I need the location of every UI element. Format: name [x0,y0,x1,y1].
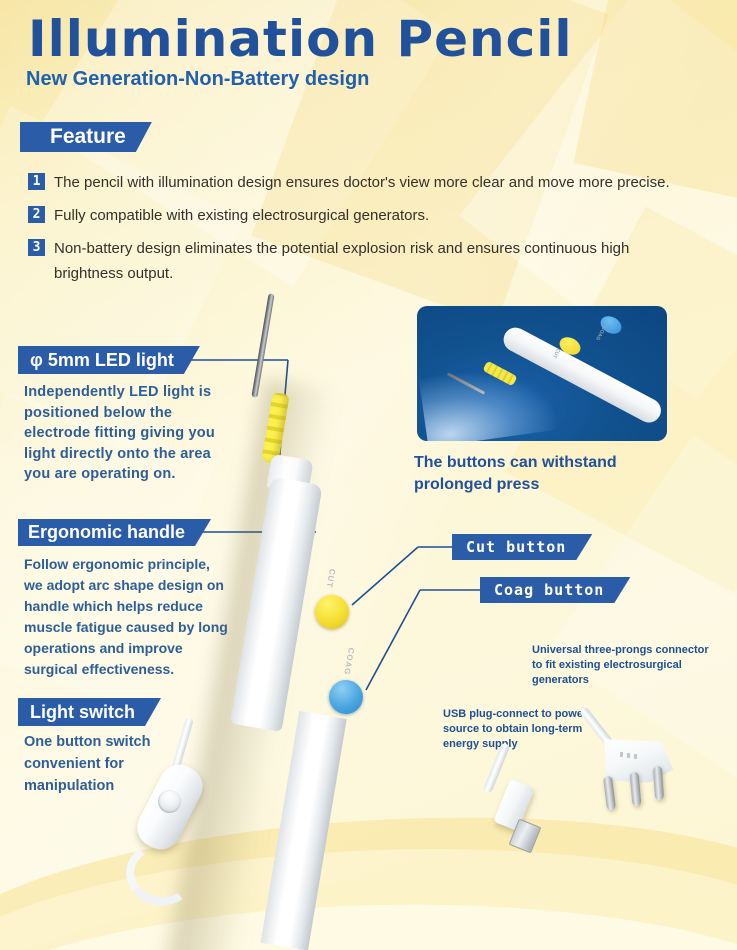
prong-vent-mark [634,754,637,759]
feature-number-badge: 2 [28,206,45,223]
product-infographic-page: Illumination Pencil New Generation-Non-B… [0,0,737,950]
coag-button-label: COAG [342,647,356,676]
light-switch-illustration [120,735,270,895]
feature-item-text: Fully compatible with existing electrosu… [54,203,429,229]
feature-banner: Feature [20,122,152,152]
feature-item-text: Non-battery design eliminates the potent… [54,236,700,288]
prong-vent-mark [620,752,623,757]
led-callout-banner: φ 5mm LED light [18,346,200,374]
main-product-illustration: CUT COAG [255,285,475,945]
feature-banner-label: Feature [50,125,126,149]
feature-item: 2 Fully compatible with existing electro… [28,203,700,229]
page-subtitle: New Generation-Non-Battery design [26,68,369,91]
feature-number-badge: 3 [28,239,45,256]
switch-callout-label: Light switch [30,702,135,723]
led-callout-text: Independently LED light is positioned be… [24,382,238,485]
feature-item: 1 The pencil with illumination design en… [28,170,700,196]
handle-callout-label: Ergonomic handle [28,522,185,543]
cut-button-callout-label: Cut button [466,538,566,556]
coag-button [326,677,365,716]
handle-callout-banner: Ergonomic handle [18,519,211,546]
cut-button [312,592,351,631]
coag-button-callout-banner: Coag button [480,577,630,603]
switch-callout-banner: Light switch [18,698,161,726]
prong-vent-mark [627,753,630,758]
usb-plug-illustration [486,742,566,862]
prong-connector-caption: Universal three-prongs connector to fit … [532,643,712,688]
page-title: Illumination Pencil [28,10,573,68]
led-callout-label: φ 5mm LED light [30,350,174,371]
cut-button-label: CUT [325,568,337,589]
feature-list: 1 The pencil with illumination design en… [28,170,700,294]
coag-button-label: COAG [594,325,606,341]
feature-number-badge: 1 [28,173,45,190]
coag-button-callout-label: Coag button [494,581,604,599]
three-prong-plug-illustration [592,712,722,842]
handle-callout-text: Follow ergonomic principle, we adopt arc… [24,554,232,680]
feature-item: 3 Non-battery design eliminates the pote… [28,236,700,288]
feature-item-text: The pencil with illumination design ensu… [54,170,670,196]
